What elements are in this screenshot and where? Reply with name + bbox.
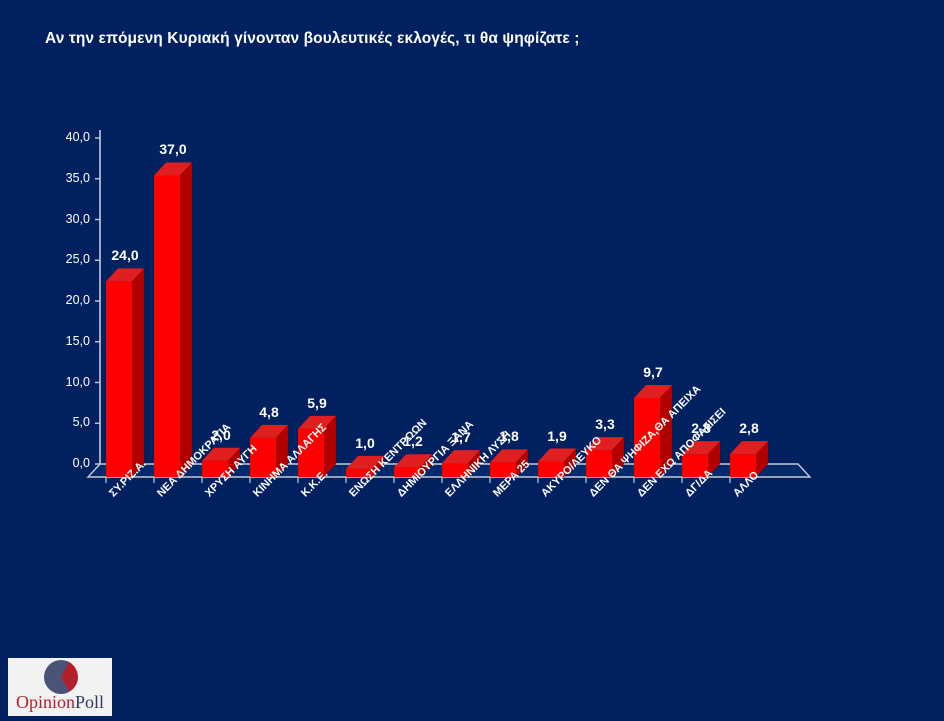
pie-chart-icon: [44, 660, 78, 694]
chart-root: Αν την επόμενη Κυριακή γίνονταν βουλευτι…: [0, 0, 944, 716]
bar-value-label: 37,0: [148, 141, 198, 157]
y-axis-tick-label: 0,0: [48, 456, 90, 470]
y-axis-tick-label: 20,0: [48, 293, 90, 307]
y-axis-tick-label: 5,0: [48, 415, 90, 429]
bar-value-label: 9,7: [628, 364, 678, 380]
y-axis-tick-label: 25,0: [48, 252, 90, 266]
bar-value-label: 1,8: [484, 428, 534, 444]
y-axis-tick-label: 10,0: [48, 375, 90, 389]
chart-back-wall: [100, 130, 812, 354]
bar-value-label: 3,3: [580, 416, 630, 432]
bar-1[interactable]: [106, 268, 144, 477]
y-axis-tick-label: 30,0: [48, 212, 90, 226]
bar-value-label: 4,8: [244, 404, 294, 420]
bar-value-label: 1,0: [340, 435, 390, 451]
bar-value-label: 24,0: [100, 247, 150, 263]
bar-chart-plot: 0,05,010,015,020,025,030,035,040,024,0ΣΥ…: [0, 0, 944, 716]
y-axis-tick-label: 15,0: [48, 334, 90, 348]
bar-value-label: 1,7: [436, 429, 486, 445]
bar-value-label: 2,0: [196, 427, 246, 443]
bar-side-face: [132, 268, 144, 477]
bar-value-label: 2,8: [724, 420, 774, 436]
bar-front-face: [106, 281, 132, 477]
bar-value-label: 1,2: [388, 433, 438, 449]
bar-front-face: [154, 175, 180, 477]
opinionpoll-logo: OpinionPoll: [8, 658, 112, 716]
logo-text-opinion: Opinion: [16, 692, 75, 712]
chart-canvas: [0, 0, 944, 716]
bar-value-label: 1,9: [532, 428, 582, 444]
bar-side-face: [180, 162, 192, 477]
bar-value-label: 2,8: [676, 420, 726, 436]
y-axis-tick-label: 40,0: [48, 130, 90, 144]
bar-value-label: 5,9: [292, 395, 342, 411]
logo-text: OpinionPoll: [8, 692, 112, 713]
logo-text-poll: Poll: [75, 692, 104, 712]
y-axis-tick-label: 35,0: [48, 171, 90, 185]
bar-2[interactable]: [154, 162, 192, 477]
